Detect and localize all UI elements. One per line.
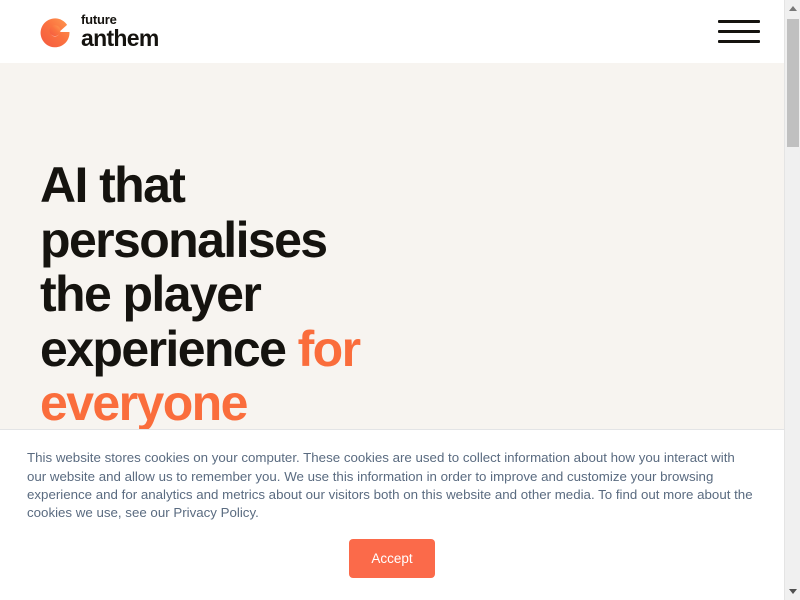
hamburger-menu-icon[interactable] (718, 17, 760, 47)
cookie-text-body: This website stores cookies on your comp… (27, 450, 753, 520)
brand-wordmark-line2: anthem (81, 27, 159, 50)
cookie-text-tail: . (255, 505, 259, 520)
brand-wordmark: future anthem (81, 13, 159, 50)
hamburger-bar-3 (718, 40, 760, 43)
scroll-up-arrow-glyph (789, 6, 797, 11)
cookie-consent-banner: This website stores cookies on your comp… (0, 429, 784, 600)
brand-logo-link[interactable]: future anthem (38, 13, 159, 50)
future-anthem-circle-logo-icon (38, 15, 72, 49)
cookie-consent-text: This website stores cookies on your comp… (27, 449, 757, 522)
site-header: future anthem (0, 0, 784, 63)
vertical-scrollbar[interactable] (784, 0, 800, 600)
page-viewport: future anthem AI that personalises the p… (0, 0, 784, 600)
accept-cookies-button[interactable]: Accept (349, 539, 434, 579)
scroll-up-arrow-icon[interactable] (785, 0, 800, 17)
hero-headline-main: AI that personalises the player experien… (40, 157, 327, 377)
scrollbar-thumb[interactable] (787, 19, 799, 147)
privacy-policy-link[interactable]: Privacy Policy (173, 505, 255, 520)
scroll-down-arrow-glyph (789, 589, 797, 594)
hero-headline: AI that personalises the player experien… (40, 158, 370, 431)
cookie-actions: Accept (20, 539, 764, 579)
hamburger-bar-1 (718, 20, 760, 23)
hamburger-bar-2 (718, 30, 760, 33)
scroll-down-arrow-icon[interactable] (785, 583, 800, 600)
